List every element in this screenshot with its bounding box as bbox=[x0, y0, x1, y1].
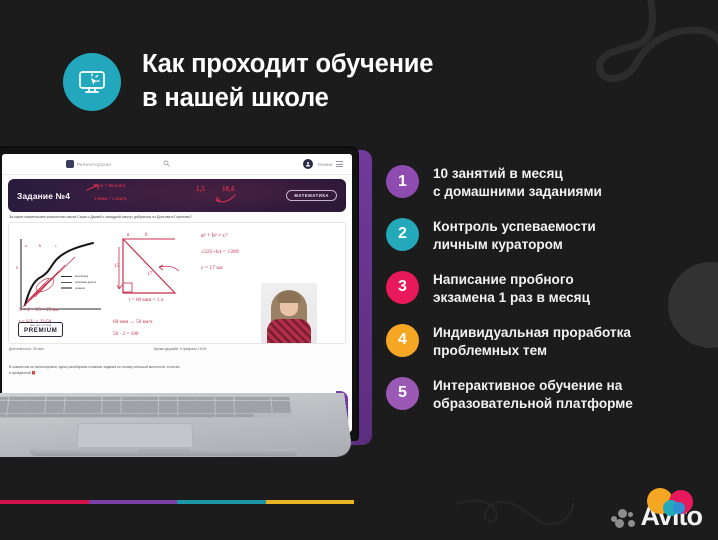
navbar-user-area: Ульяна bbox=[303, 159, 343, 169]
avito-logo: Avito bbox=[611, 505, 703, 528]
premium-badge-label: PREMIUM bbox=[24, 327, 57, 334]
laptop-screen: Репетиторская bbox=[2, 154, 352, 432]
legend-label: проезжая дорога bbox=[75, 281, 96, 284]
formula-line: a² + b² = c² bbox=[201, 233, 228, 239]
task-note: В совсем мы не используемся, здесь разоб… bbox=[9, 365, 345, 376]
legend-swatch bbox=[61, 276, 72, 277]
svg-text:8: 8 bbox=[145, 233, 148, 238]
laptop-base-notch bbox=[138, 449, 190, 453]
legend-label: велосипед bbox=[75, 275, 88, 278]
task-title: Задание №4 bbox=[17, 191, 70, 201]
legend-entry: пешком bbox=[61, 287, 96, 290]
keyboard-row bbox=[0, 401, 290, 404]
student-video-thumbnail[interactable] bbox=[261, 283, 317, 343]
subject-badge: МАТЕМАТИКА bbox=[286, 190, 337, 202]
formula-line: c = 17 км bbox=[201, 265, 223, 271]
graph-legend: велосипед проезжая дорога пешком bbox=[61, 275, 96, 292]
formula-line: 60 мин → 50 км/ч bbox=[113, 319, 152, 325]
svg-text:c: c bbox=[55, 243, 57, 248]
feature-number-badge: 3 bbox=[386, 271, 419, 304]
avito-blobs-icon bbox=[647, 488, 703, 518]
scribble-annotation: 18,4 bbox=[222, 185, 234, 193]
feature-list: 1 10 занятий в месяц с домашними задания… bbox=[386, 164, 696, 414]
legend-entry: велосипед bbox=[61, 275, 96, 278]
color-bar-segment-4 bbox=[266, 500, 355, 504]
accent-color-bar bbox=[0, 500, 354, 504]
avito-dots-icon bbox=[611, 506, 637, 528]
task-duration: Длительность: 45 мин bbox=[9, 347, 44, 351]
swirl-loop-decoration bbox=[594, 0, 718, 106]
keyboard-row bbox=[0, 414, 291, 417]
scribble-annotation: Vсм = 60 км/ч bbox=[94, 184, 125, 189]
color-bar-segment-3 bbox=[177, 500, 266, 504]
worksheet-area: км/ч a b c S велосипед проезжая bbox=[8, 222, 346, 344]
laptop-trackpad bbox=[76, 423, 193, 448]
feature-text: Контроль успеваемости личным куратором bbox=[433, 217, 596, 255]
legend-entry: проезжая дорога bbox=[61, 281, 96, 284]
app-logo[interactable]: Репетиторская bbox=[66, 160, 111, 168]
keyboard-row bbox=[0, 397, 290, 400]
list-item: 2 Контроль успеваемости личным куратором bbox=[386, 217, 696, 255]
slide-canvas: Как проходит обучение в нашей школе 1 10… bbox=[0, 0, 718, 540]
laptop-mockup: Репетиторская bbox=[0, 150, 379, 470]
task-deadline: Время дедлайн: 5 февраля 16:00 bbox=[154, 347, 207, 351]
task-question: За какое наименьшее количество часов Саш… bbox=[9, 215, 345, 220]
svg-text:S: S bbox=[16, 265, 18, 270]
triangle-sketch: в 8 15 17 bbox=[113, 231, 191, 317]
legend-label: пешком bbox=[75, 287, 85, 290]
list-item: 3 Написание пробного экзамена 1 раз в ме… bbox=[386, 270, 696, 308]
list-item: 1 10 занятий в месяц с домашними задания… bbox=[386, 164, 696, 202]
app-navbar: Репетиторская bbox=[2, 154, 352, 175]
formula-line: 50 · 2 = 100 bbox=[113, 331, 138, 337]
list-item: 5 Интерактивное обучение на образователь… bbox=[386, 376, 696, 414]
feature-text: Индивидуальная проработка проблемных тем bbox=[433, 323, 631, 361]
scribble-annotation: 1,5 bbox=[196, 185, 205, 193]
laptop-deck bbox=[0, 393, 353, 457]
keyboard-row bbox=[0, 409, 291, 412]
feature-text: 10 занятий в месяц с домашними заданиями bbox=[433, 164, 602, 202]
formula-line: √225+64 = √289 bbox=[201, 249, 239, 255]
swirl-curve-decoration bbox=[455, 492, 575, 534]
scribble-annotation: Vпеш = 5 км/ч bbox=[94, 197, 127, 202]
formula-line: S = 2 + 15 = 23 км bbox=[19, 307, 59, 313]
legend-swatch bbox=[61, 287, 72, 288]
feature-number-badge: 2 bbox=[386, 218, 419, 251]
svg-text:b: b bbox=[39, 243, 42, 248]
feature-text: Интерактивное обучение на образовательно… bbox=[433, 376, 633, 414]
task-header-card: Vсм = 60 км/ч Vпеш = 5 км/ч 1,5 18,4 Зад… bbox=[8, 179, 346, 212]
list-item: 4 Индивидуальная проработка проблемных т… bbox=[386, 323, 696, 361]
feature-text: Написание пробного экзамена 1 раз в меся… bbox=[433, 270, 590, 308]
app-logo-mark bbox=[66, 160, 74, 168]
svg-text:a: a bbox=[25, 243, 27, 248]
feature-number-badge: 1 bbox=[386, 165, 419, 198]
app-logo-label: Репетиторская bbox=[77, 162, 111, 167]
monitor-cursor-icon bbox=[63, 53, 121, 111]
username-label: Ульяна bbox=[317, 162, 332, 167]
student-hair bbox=[277, 291, 301, 303]
svg-text:17: 17 bbox=[147, 272, 153, 277]
legend-swatch bbox=[61, 282, 72, 283]
feature-number-badge: 5 bbox=[386, 377, 419, 410]
svg-text:в: в bbox=[127, 233, 130, 238]
laptop-keyboard bbox=[0, 396, 293, 418]
laptop-base bbox=[0, 393, 362, 471]
color-bar-segment-2 bbox=[89, 500, 178, 504]
premium-badge: МАСТЕР-ГРУППА PREMIUM bbox=[18, 322, 63, 338]
keyboard-row bbox=[0, 405, 291, 408]
color-bar-segment-1 bbox=[0, 500, 89, 504]
task-meta: Длительность: 45 мин Время дедлайн: 5 фе… bbox=[9, 347, 345, 351]
user-avatar-icon[interactable] bbox=[303, 159, 313, 169]
search-icon[interactable] bbox=[163, 160, 170, 169]
avito-wordmark: Avito bbox=[641, 505, 703, 528]
page-title: Как проходит обучение в нашей школе bbox=[142, 48, 433, 116]
formula-line: t = 60 мин = 1 ч bbox=[129, 297, 163, 303]
hamburger-menu-icon[interactable] bbox=[336, 161, 343, 166]
page-header: Как проходит обучение в нашей школе bbox=[63, 48, 433, 116]
feature-number-badge: 4 bbox=[386, 324, 419, 357]
arrow-icon bbox=[214, 193, 236, 205]
student-body bbox=[267, 319, 311, 343]
